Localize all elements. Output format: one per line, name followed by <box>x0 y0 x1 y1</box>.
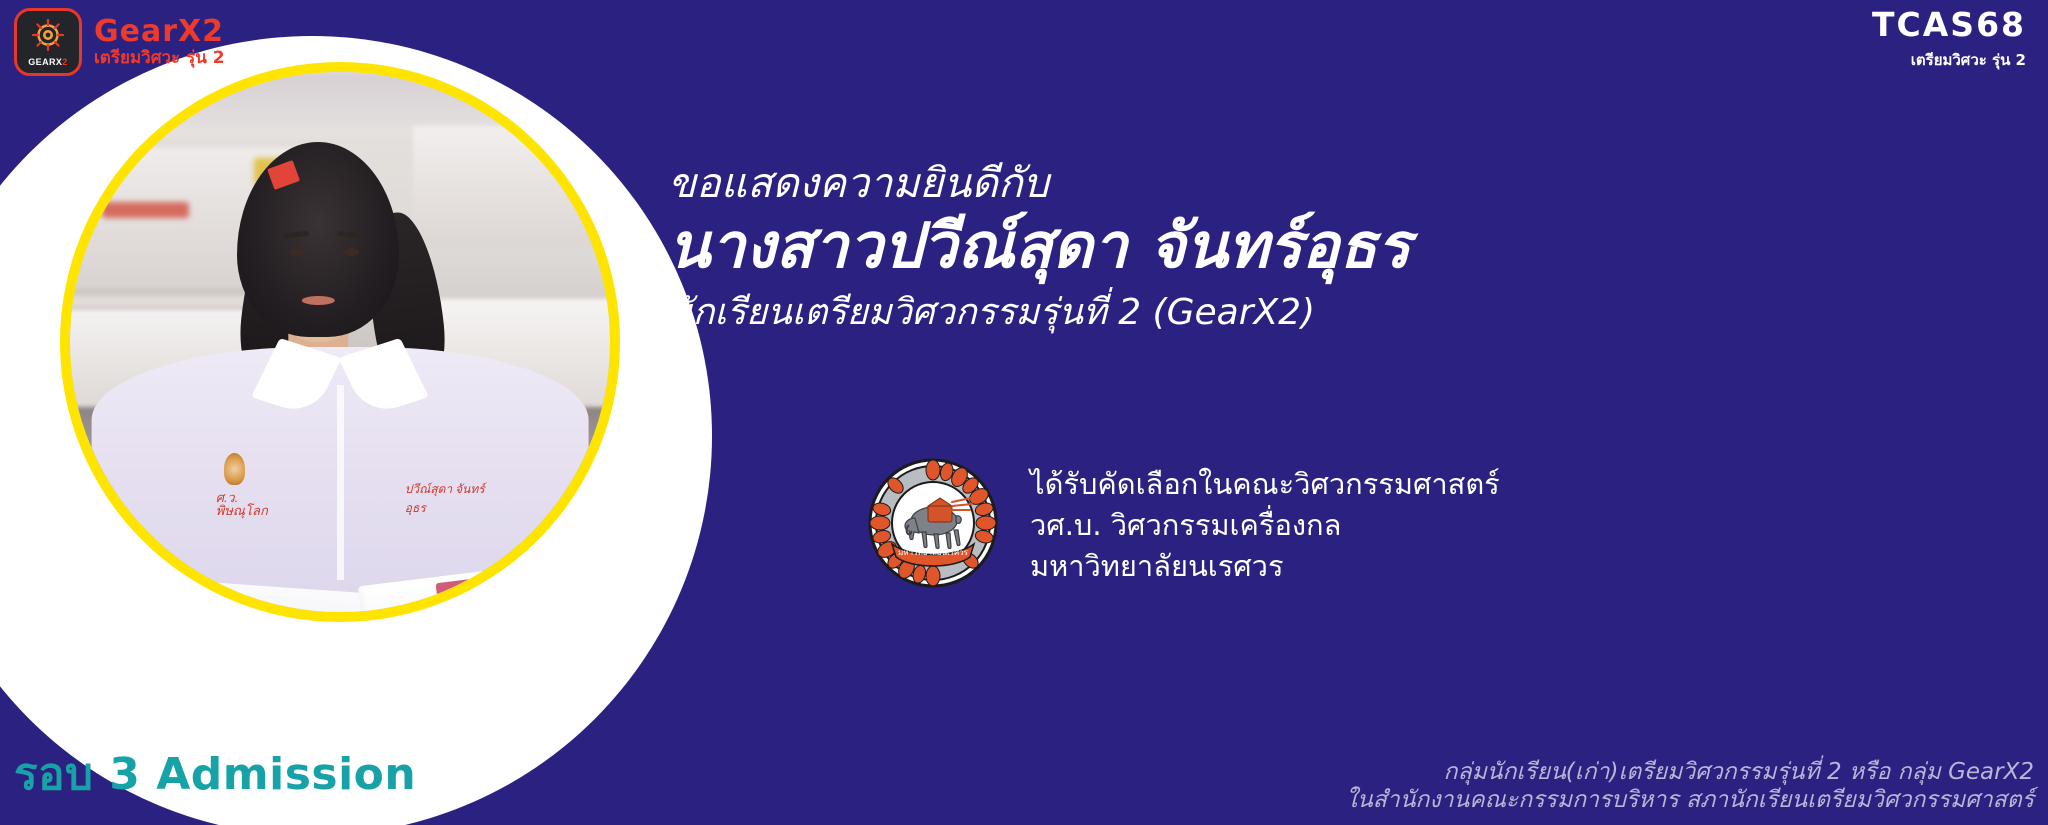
gearx2-brand: GEARX2 GearX2 เตรียมวิศวะ รุ่น 2 <box>14 8 225 76</box>
university-line-name: มหาวิทยาลัยนเรศวร <box>1030 546 1500 587</box>
tcas-subtitle: เตรียมวิศวะ รุ่น 2 <box>1872 48 2026 72</box>
photo-shirt-placket <box>337 385 345 579</box>
university-line-faculty: ได้รับคัดเลือกในคณะวิศวกรรมศาสตร์ <box>1030 464 1500 505</box>
photo-hand-right <box>534 569 599 612</box>
gearx2-mark-caption: GEARX2 <box>28 57 67 67</box>
university-line-degree: วศ.บ. วิศวกรรมเครื่องกล <box>1030 505 1500 546</box>
photo-shelf-b <box>413 126 610 245</box>
university-block: มหาวิทยาลัยนเรศวร ได้รับคัดเลือกในคณะวิศ… <box>868 458 1500 588</box>
naresuan-university-seal-icon: มหาวิทยาลัยนเรศวร <box>868 458 998 588</box>
congratulation-text-block: ขอแสดงความยินดีกับ นางสาวปวีณ์สุดา จันทร… <box>668 160 2028 335</box>
photo-eye-left <box>289 248 306 256</box>
footnote-block: กลุ่มนักเรียน(เก่า)เตรียมวิศวกรรมรุ่นที่… <box>1346 758 2034 816</box>
gear-icon <box>28 16 68 56</box>
photo-school-badge <box>224 453 246 485</box>
congratulation-line: ขอแสดงความยินดีกับ <box>668 160 2028 207</box>
student-name: นางสาวปวีณ์สุดา จันทร์อุธร <box>668 209 2028 283</box>
gearx2-brand-text: GearX2 เตรียมวิศวะ รุ่น 2 <box>94 17 225 67</box>
tcas-badge: TCAS68 เตรียมวิศวะ รุ่น 2 <box>1872 8 2026 72</box>
photo-accent-red <box>102 202 188 218</box>
footnote-line-1: กลุ่มนักเรียน(เก่า)เตรียมวิศวกรรมรุ่นที่… <box>1346 758 2034 787</box>
congratulation-banner: ศ.ว. พิษณุโลก ปวีณ์สุดา จันทร์อุธร <box>0 0 2048 825</box>
photo-shirt-name-text: ปวีณ์สุดา จันทร์อุธร <box>405 480 491 502</box>
student-role: นักเรียนเตรียมวิศวกรรมรุ่นที่ 2 (GearX2) <box>668 290 2028 335</box>
tcas-title: TCAS68 <box>1872 8 2026 43</box>
svg-text:มหาวิทยาลัยนเรศวร: มหาวิทยาลัยนเรศวร <box>898 548 969 557</box>
gearx2-title: GearX2 <box>94 17 225 47</box>
photo-shirt-badge-text: ศ.ว. พิษณุโลก <box>216 491 265 515</box>
gearx2-logo-mark: GEARX2 <box>14 8 82 76</box>
admission-round-label: รอบ 3 Admission <box>14 739 416 809</box>
university-text-lines: ได้รับคัดเลือกในคณะวิศวกรรมศาสตร์ วศ.บ. … <box>1030 458 1500 588</box>
footnote-line-2: ในสำนักงานคณะกรรมการบริหาร สภานักเรียนเต… <box>1346 786 2034 815</box>
gearx2-subtitle: เตรียมวิศวะ รุ่น 2 <box>94 50 225 67</box>
student-portrait-photo: ศ.ว. พิษณุโลก ปวีณ์สุดา จันทร์อุธร <box>70 72 610 612</box>
photo-eye-right <box>343 248 360 256</box>
